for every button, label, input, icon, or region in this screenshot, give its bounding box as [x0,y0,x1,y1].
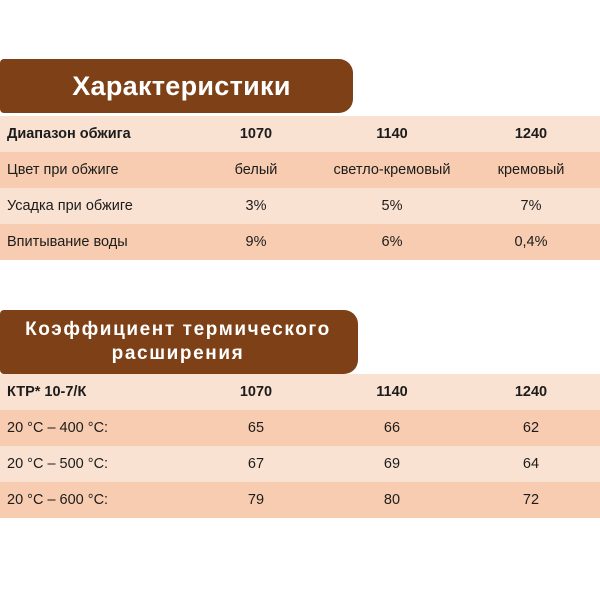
table-cell: 6% [322,224,462,260]
table-cell: светло-кремовый [322,152,462,188]
table-2-title: Коэффициент термического расширения [14,318,342,366]
column-header-1140: 1140 [322,116,462,152]
table-row: Цвет при обжиге белый светло-кремовый кр… [0,152,600,188]
specification-sheet: Характеристики Диапазон обжига 1070 1140… [0,0,600,600]
table-row: КТР* 10-7/К 1070 1140 1240 [0,374,600,410]
table-row: Впитывание воды 9% 6% 0,4% [0,224,600,260]
table-1-title-tab: Характеристики [0,59,353,113]
table-cell: 9% [190,224,322,260]
table-cell: 65 [190,410,322,446]
table-cell: 0,4% [462,224,600,260]
thermal-expansion-table: КТР* 10-7/К 1070 1140 1240 20 °C – 400 °… [0,374,600,518]
table-cell: 66 [322,410,462,446]
column-header-1240: 1240 [462,116,600,152]
table-row: 20 °C – 600 °C: 79 80 72 [0,482,600,518]
table-cell: белый [190,152,322,188]
table-cell: 64 [462,446,600,482]
table-cell: 69 [322,446,462,482]
table-cell: кремовый [462,152,600,188]
table-row: Усадка при обжиге 3% 5% 7% [0,188,600,224]
column-header-1070: 1070 [190,116,322,152]
table-cell: 3% [190,188,322,224]
table-row: Диапазон обжига 1070 1140 1240 [0,116,600,152]
table-row: 20 °C – 400 °C: 65 66 62 [0,410,600,446]
table-row: 20 °C – 500 °C: 67 69 64 [0,446,600,482]
table-2-title-tab: Коэффициент термического расширения [0,310,358,374]
table-cell: 80 [322,482,462,518]
table-cell: 5% [322,188,462,224]
table-cell: 62 [462,410,600,446]
column-header-1140: 1140 [322,374,462,410]
table-1-title: Характеристики [72,72,291,100]
row-label: 20 °C – 600 °C: [0,482,190,518]
row-label: Диапазон обжига [0,116,190,152]
table-cell: 67 [190,446,322,482]
row-label: 20 °C – 400 °C: [0,410,190,446]
table-cell: 79 [190,482,322,518]
row-label: Цвет при обжиге [0,152,190,188]
table-cell: 7% [462,188,600,224]
row-label: КТР* 10-7/К [0,374,190,410]
row-label: 20 °C – 500 °C: [0,446,190,482]
column-header-1070: 1070 [190,374,322,410]
row-label: Впитывание воды [0,224,190,260]
column-header-1240: 1240 [462,374,600,410]
row-label: Усадка при обжиге [0,188,190,224]
table-cell: 72 [462,482,600,518]
characteristics-table: Диапазон обжига 1070 1140 1240 Цвет при … [0,116,600,260]
